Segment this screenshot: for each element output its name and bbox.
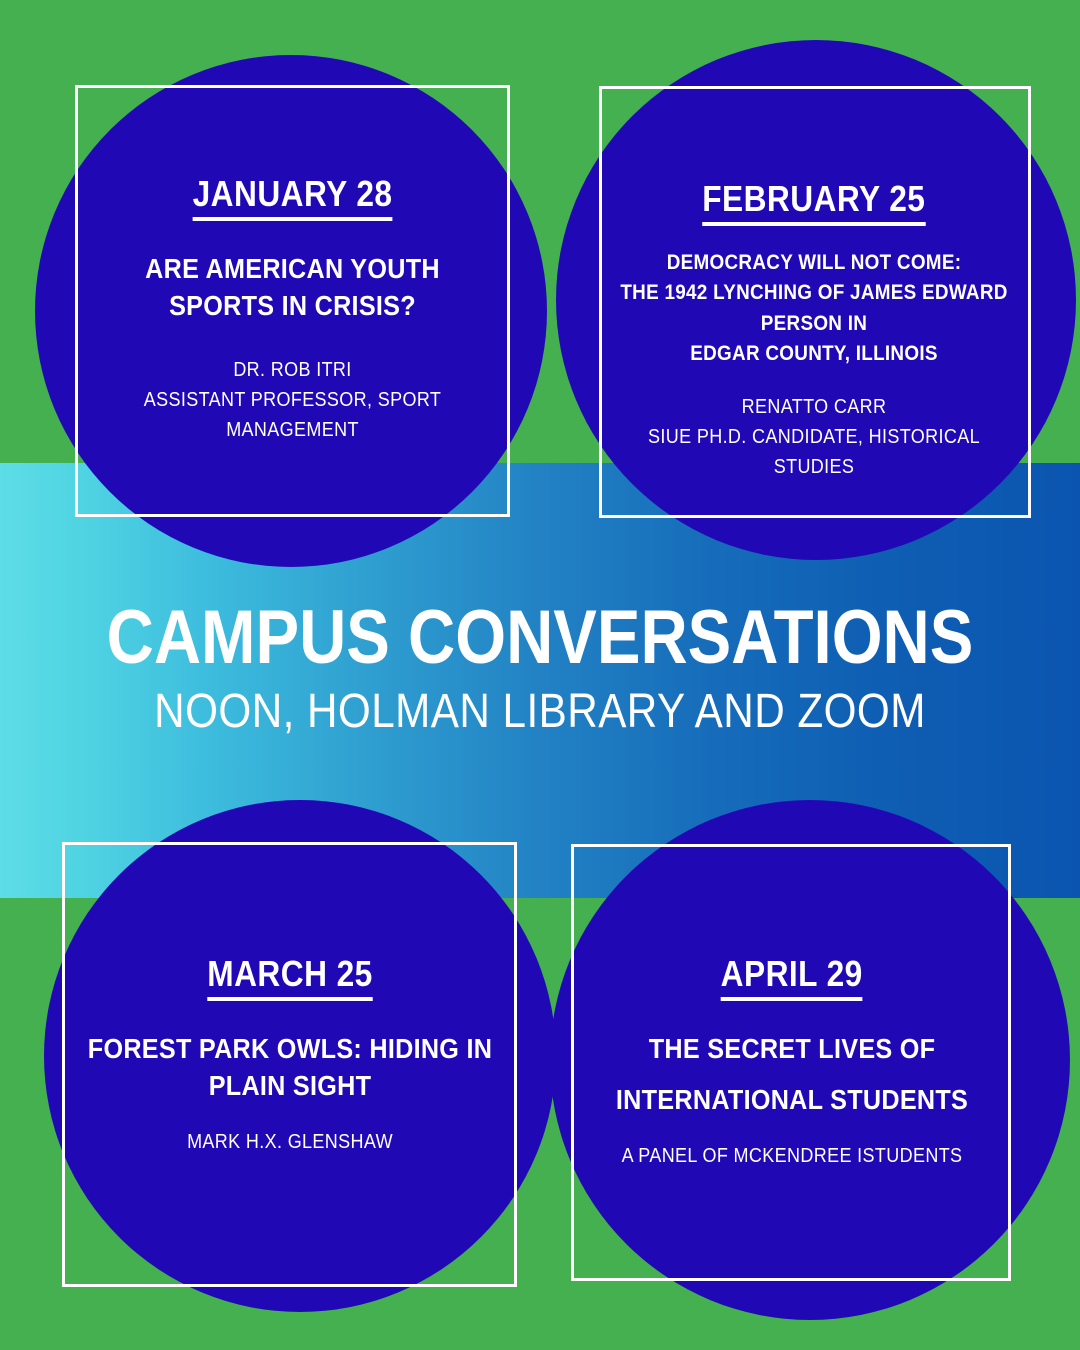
event-title-line: FOREST PARK OWLS: HIDING IN — [79, 1031, 502, 1068]
event-title-line: INTERNATIONAL STUDENTS — [585, 1082, 999, 1119]
event-title-line: ARE AMERICAN YOUTH — [97, 251, 489, 288]
event-speaker-line: DR. ROB ITRI — [97, 355, 489, 385]
event-speaker-april: A PANEL OF MCKENDREE ISTUDENTS — [585, 1141, 999, 1171]
event-panel-january: JANUARY 28 ARE AMERICAN YOUTH SPORTS IN … — [75, 175, 510, 445]
event-title-line: EDGAR COUNTY, ILLINOIS — [607, 339, 1021, 369]
spacer — [585, 1068, 999, 1082]
event-title-february: DEMOCRACY WILL NOT COME: THE 1942 LYNCHI… — [607, 248, 1021, 370]
event-speaker-line: A PANEL OF MCKENDREE ISTUDENTS — [585, 1141, 999, 1171]
event-panel-february: FEBRUARY 25 DEMOCRACY WILL NOT COME: THE… — [584, 180, 1044, 482]
spacer — [55, 1001, 525, 1031]
poster-canvas: JANUARY 28 ARE AMERICAN YOUTH SPORTS IN … — [0, 0, 1080, 1350]
spacer — [584, 226, 1044, 248]
spacer — [562, 1001, 1022, 1031]
spacer — [562, 1119, 1022, 1141]
spacer — [55, 1105, 525, 1127]
poster-headline-block: CAMPUS CONVERSATIONS NOON, HOLMAN LIBRAR… — [0, 600, 1080, 742]
event-title-line: SPORTS IN CRISIS? — [97, 288, 489, 325]
spacer — [75, 221, 510, 251]
event-title-line: PLAIN SIGHT — [79, 1068, 502, 1105]
event-date-january: JANUARY 28 — [193, 175, 393, 221]
event-title-line: THE SECRET LIVES OF — [585, 1031, 999, 1068]
event-title-line: THE 1942 LYNCHING OF JAMES EDWARD PERSON… — [607, 278, 1021, 339]
event-speaker-line: RENATTO CARR — [607, 392, 1021, 422]
event-title-line: DEMOCRACY WILL NOT COME: — [607, 248, 1021, 278]
page-title: CAMPUS CONVERSATIONS — [76, 600, 1005, 676]
event-date-march: MARCH 25 — [207, 955, 372, 1001]
event-date-april: APRIL 29 — [721, 955, 863, 1001]
event-date-february: FEBRUARY 25 — [702, 180, 925, 226]
spacer — [75, 325, 510, 355]
event-title-april: THE SECRET LIVES OF INTERNATIONAL STUDEN… — [585, 1031, 999, 1119]
event-speaker-february: RENATTO CARR SIUE PH.D. CANDIDATE, HISTO… — [607, 392, 1021, 482]
event-panel-march: MARCH 25 FOREST PARK OWLS: HIDING IN PLA… — [55, 955, 525, 1157]
page-subtitle: NOON, HOLMAN LIBRARY AND ZOOM — [65, 682, 1015, 742]
event-title-march: FOREST PARK OWLS: HIDING IN PLAIN SIGHT — [79, 1031, 502, 1105]
event-speaker-january: DR. ROB ITRI ASSISTANT PROFESSOR, SPORT … — [97, 355, 489, 445]
event-panel-april: APRIL 29 THE SECRET LIVES OF INTERNATION… — [562, 955, 1022, 1171]
event-speaker-line: SIUE PH.D. CANDIDATE, HISTORICAL STUDIES — [607, 422, 1021, 482]
event-speaker-line: ASSISTANT PROFESSOR, SPORT MANAGEMENT — [97, 385, 489, 445]
event-speaker-march: MARK H.X. GLENSHAW — [79, 1127, 502, 1157]
event-speaker-line: MARK H.X. GLENSHAW — [79, 1127, 502, 1157]
spacer — [584, 370, 1044, 392]
event-title-january: ARE AMERICAN YOUTH SPORTS IN CRISIS? — [97, 251, 489, 325]
